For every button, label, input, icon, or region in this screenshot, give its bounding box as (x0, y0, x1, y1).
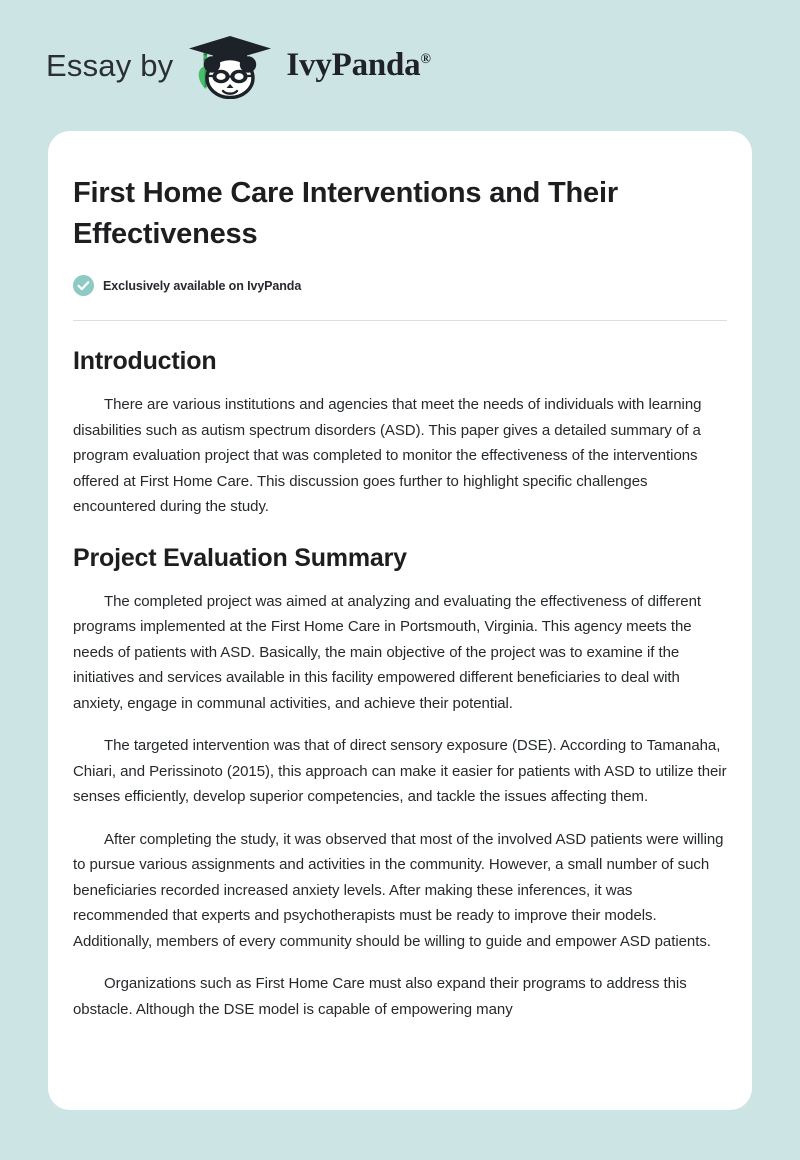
ivypanda-wordmark: IvyPanda® (286, 49, 430, 82)
essay-by-label: Essay by (46, 50, 173, 81)
brand-lockup[interactable]: Essay by (46, 33, 431, 99)
registered-trademark-icon: ® (420, 52, 430, 67)
page-title: First Home Care Interventions and Their … (73, 173, 727, 255)
paragraph: The targeted intervention was that of di… (73, 733, 727, 810)
section-heading-introduction: Introduction (73, 347, 727, 376)
page-header: Essay by (0, 0, 800, 131)
status-badge: Exclusively available on IvyPanda (73, 275, 727, 296)
paragraph: The completed project was aimed at analy… (73, 589, 727, 717)
paragraph: After completing the study, it was obser… (73, 827, 727, 955)
essay-paper-card: First Home Care Interventions and Their … (48, 131, 752, 1110)
paragraph: Organizations such as First Home Care mu… (73, 971, 727, 1022)
section-heading-project-evaluation-summary: Project Evaluation Summary (73, 544, 727, 573)
status-badge-label: Exclusively available on IvyPanda (103, 279, 301, 293)
brand-name-text: IvyPanda (286, 47, 420, 83)
paragraph: There are various institutions and agenc… (73, 392, 727, 520)
ivypanda-panda-graduate-logo-icon (183, 33, 279, 99)
ivypanda-logo[interactable]: IvyPanda® (183, 33, 430, 99)
title-divider (73, 320, 727, 321)
essay-content: First Home Care Interventions and Their … (73, 173, 727, 1022)
check-circle-icon (73, 275, 94, 296)
